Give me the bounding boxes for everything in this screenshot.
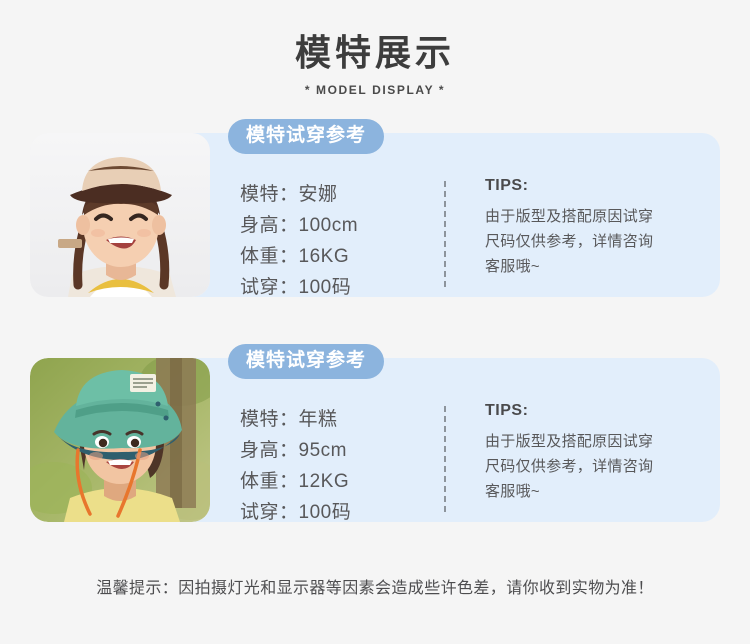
spec-value: 100码 [299,502,352,523]
spec-label: 体重： [240,246,299,267]
spec-label: 身高： [240,440,299,461]
tips-block: TIPS: 由于版型及搭配原因试穿 尺码仅供参考，详情咨询 客服哦~ [485,177,700,279]
model-card-badge: 模特试穿参考 [228,344,384,379]
spec-label: 试穿： [240,502,299,523]
model-card-list: 模特试穿参考 模特：安娜 身高：100cm 体重：16KG 试穿：100码 TI… [0,133,750,522]
dashed-divider [444,181,446,287]
spec-value: 100cm [299,215,359,236]
tips-line: 由于版型及搭配原因试穿 [485,204,700,229]
spec-label: 模特： [240,184,299,205]
tips-line: 由于版型及搭配原因试穿 [485,429,700,454]
spec-value: 100码 [299,277,352,298]
spec-label: 身高： [240,215,299,236]
model-photo-anna [30,133,210,297]
spec-label: 体重： [240,471,299,492]
spec-value: 95cm [299,440,347,461]
dashed-divider [444,406,446,512]
spec-row-weight: 体重：16KG [240,241,358,272]
spec-value: 安娜 [299,184,338,205]
model-card-badge: 模特试穿参考 [228,119,384,154]
tips-line: 客服哦~ [485,479,700,504]
model-photo-niangao [30,358,210,522]
tips-body: 由于版型及搭配原因试穿 尺码仅供参考，详情咨询 客服哦~ [485,204,700,279]
tips-line: 尺码仅供参考，详情咨询 [485,229,700,254]
page-subtitle: * MODEL DISPLAY * [0,83,750,97]
spec-value: 年糕 [299,409,338,430]
tips-line: 尺码仅供参考，详情咨询 [485,454,700,479]
spec-row-weight: 体重：12KG [240,466,351,497]
spec-row-height: 身高：95cm [240,435,351,466]
spec-value: 16KG [299,246,350,267]
page-title: 模特展示 [0,30,750,75]
spec-value: 12KG [299,471,350,492]
spec-row-model: 模特：安娜 [240,179,358,210]
model-card: 模特试穿参考 模特：安娜 身高：100cm 体重：16KG 试穿：100码 TI… [0,133,750,297]
spec-row-size: 试穿：100码 [240,497,351,528]
model-spec-list: 模特：安娜 身高：100cm 体重：16KG 试穿：100码 [240,179,358,303]
spec-label: 模特： [240,409,299,430]
tips-title: TIPS: [485,177,700,195]
tips-title: TIPS: [485,402,700,420]
spec-row-height: 身高：100cm [240,210,358,241]
page-header: 模特展示 * MODEL DISPLAY * [0,0,750,97]
tips-line: 客服哦~ [485,254,700,279]
spec-row-model: 模特：年糕 [240,404,351,435]
model-card: 模特试穿参考 模特：年糕 身高：95cm 体重：12KG 试穿：100码 TIP… [0,358,750,522]
spec-label: 试穿： [240,277,299,298]
footer-notice: 温馨提示：因拍摄灯光和显示器等因素会造成些许色差，请你收到实物为准！ [0,574,750,598]
model-spec-list: 模特：年糕 身高：95cm 体重：12KG 试穿：100码 [240,404,351,528]
tips-block: TIPS: 由于版型及搭配原因试穿 尺码仅供参考，详情咨询 客服哦~ [485,402,700,504]
spec-row-size: 试穿：100码 [240,272,358,303]
tips-body: 由于版型及搭配原因试穿 尺码仅供参考，详情咨询 客服哦~ [485,429,700,504]
